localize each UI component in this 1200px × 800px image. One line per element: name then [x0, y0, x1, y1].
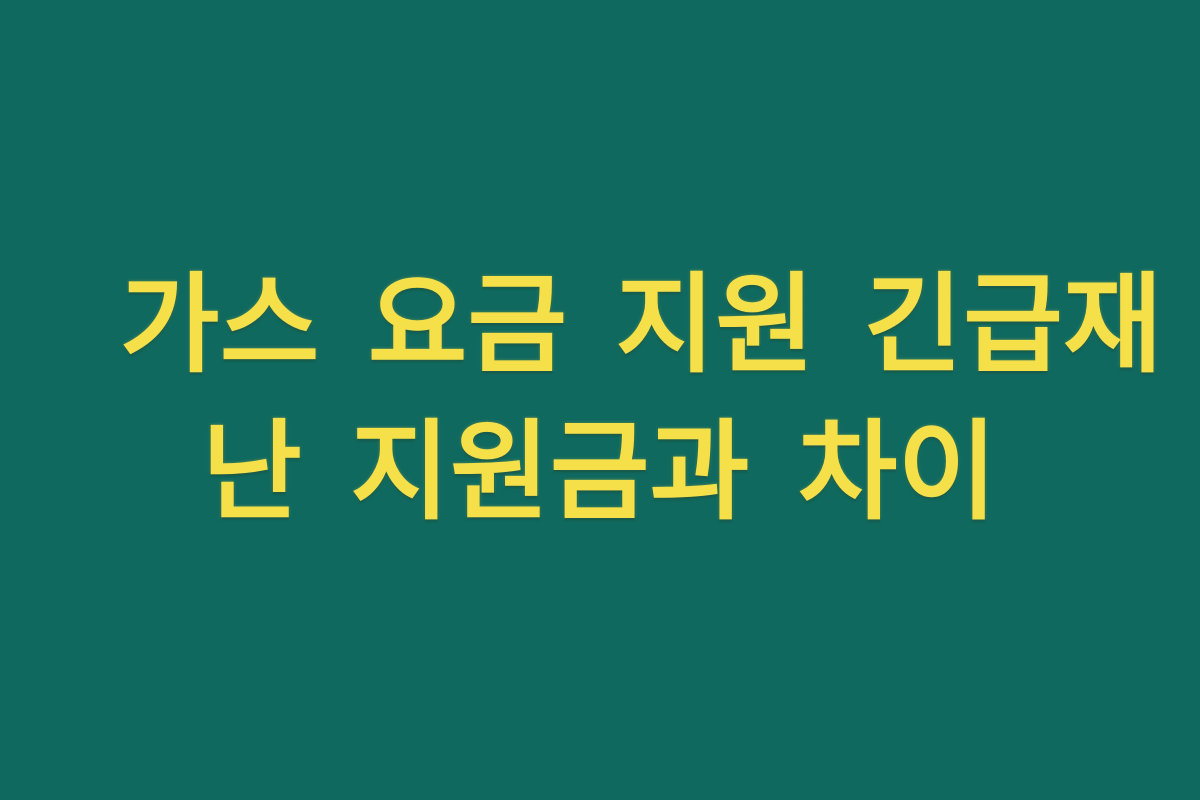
headline-line-2: 난 지원금과 차이 [120, 402, 1080, 545]
headline-line-1: 가스 요금 지원 긴급재 [120, 255, 1080, 398]
banner-canvas: 가스 요금 지원 긴급재 난 지원금과 차이 [0, 0, 1200, 800]
headline-text: 가스 요금 지원 긴급재 난 지원금과 차이 [120, 255, 1080, 544]
